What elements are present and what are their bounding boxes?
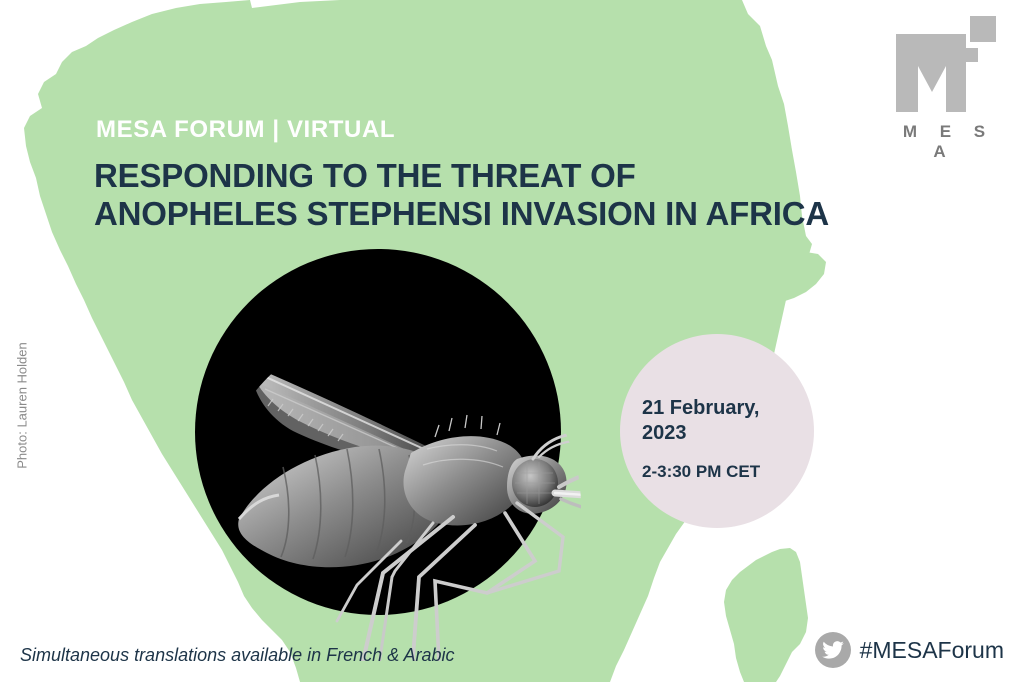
event-date: 21 February, 2023 bbox=[642, 396, 792, 446]
mosquito-abdomen bbox=[238, 446, 453, 568]
social-handle-text[interactable]: #MESAForum bbox=[860, 637, 1004, 664]
mesa-m-monogram-icon bbox=[882, 14, 1006, 118]
twitter-bird-icon[interactable] bbox=[815, 632, 851, 668]
event-time: 2-3:30 PM CET bbox=[642, 462, 802, 482]
event-kicker: MESA FORUM | VIRTUAL bbox=[96, 116, 395, 144]
social-handle-group[interactable]: #MESAForum bbox=[815, 632, 1004, 668]
mosquito-photo-circle bbox=[195, 249, 561, 615]
event-date-badge: 21 February, 2023 2-3:30 PM CET bbox=[620, 334, 814, 528]
photo-credit: Photo: Lauren Holden bbox=[15, 316, 30, 496]
mesa-logo: M E S A bbox=[882, 14, 1006, 144]
horn-of-africa-shape bbox=[748, 232, 826, 302]
translations-note: Simultaneous translations available in F… bbox=[20, 645, 455, 666]
mesa-wordmark: M E S A bbox=[882, 122, 1006, 162]
poster-canvas: M E S A MESA FORUM | VIRTUAL RESPONDING … bbox=[0, 0, 1024, 682]
page-title: RESPONDING TO THE THREAT OF ANOPHELES ST… bbox=[94, 157, 829, 234]
mosquito-wings bbox=[249, 365, 449, 466]
mosquito-thorax bbox=[403, 415, 526, 525]
madagascar-island-shape bbox=[724, 548, 808, 682]
